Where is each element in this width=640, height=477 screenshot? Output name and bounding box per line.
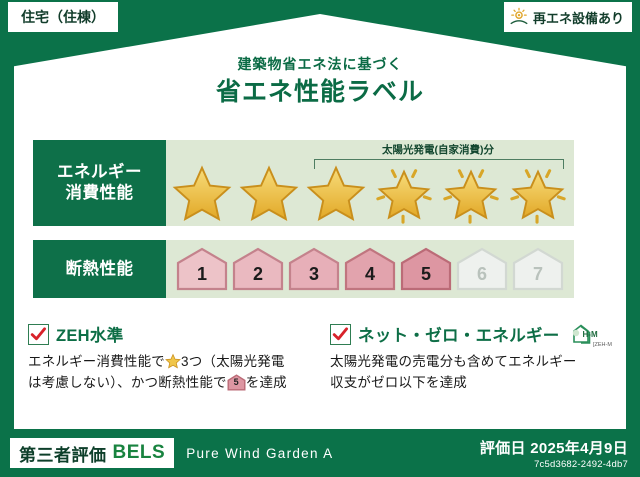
title-subtitle: 建築物省エネ法に基づく: [0, 56, 640, 73]
evaluation-info: 評価日 2025年4月9日 7c5d3682-2492-4db7: [480, 437, 628, 470]
insulation-badge-group: 1 2 3 4 5: [166, 240, 574, 298]
renewable-equipment-label: 再エネ設備あり: [533, 8, 624, 27]
insulation-badge-inactive: 7: [511, 246, 565, 292]
star-item-solar: [373, 162, 435, 224]
energy-performance-label-card: 住宅（住棟） 再エネ設備あり 建築物省エネ法に基づく 省エネ性能ラベル: [0, 0, 640, 477]
evaluation-date-label: 評価日: [480, 440, 526, 457]
zeh-standard-body: エネルギー消費性能で3つ（太陽光発電 は考慮しない）、かつ断熱性能で5を達成: [28, 352, 308, 394]
energy-label-line2: 消費性能: [66, 183, 134, 204]
insulation-badge-panel: 1 2 3 4 5: [166, 240, 574, 298]
insulation-performance-row: 断熱性能 1 2 3 4: [33, 240, 574, 298]
renewable-equipment-badge: 再エネ設備あり: [504, 2, 632, 32]
zeh-m-logo-icon: H-M [ZEH-M]: [568, 320, 610, 348]
insulation-badge-number: 2: [253, 265, 263, 292]
energy-label-line1: エネルギー: [57, 162, 142, 183]
insulation-badge-number: 5: [421, 265, 431, 292]
star-icon-inline: [165, 353, 181, 369]
net-zero-energy-header: ネット・ゼロ・エネルギー H-M [ZEH-M]: [330, 322, 610, 346]
property-name: Pure Wind Garden A: [186, 446, 333, 461]
zeh-standard-header: ZEH水準: [28, 322, 308, 346]
net-zero-energy-section: ネット・ゼロ・エネルギー H-M [ZEH-M] 太陽光発電の売電分も含めてエネ…: [330, 322, 610, 394]
net-zero-body-line2: 収支がゼロ以下を達成: [330, 373, 610, 394]
svg-text:H-M: H-M: [582, 330, 597, 339]
star-item: [171, 162, 233, 224]
insulation-badge: 3: [287, 246, 341, 292]
title-block: 建築物省エネ法に基づく 省エネ性能ラベル: [0, 56, 640, 110]
insulation-badge: 2: [231, 246, 285, 292]
insulation-label-text: 断熱性能: [66, 259, 134, 280]
insulation-badge-number: 3: [309, 265, 319, 292]
evaluation-id: 7c5d3682-2492-4db7: [480, 459, 628, 470]
star-item-solar: [440, 162, 502, 224]
energy-performance-label: エネルギー 消費性能: [33, 140, 166, 226]
insulation-badge-number: 4: [365, 265, 375, 292]
sparkle-marks-icon: [507, 162, 569, 224]
insulation-badge-inactive: 6: [455, 246, 509, 292]
energy-performance-row: エネルギー 消費性能 太陽光発電(自家消費)分: [33, 140, 574, 226]
insulation-badge-number: 1: [197, 265, 207, 292]
energy-star-panel: 太陽光発電(自家消費)分: [166, 140, 574, 226]
check-icon: [330, 324, 351, 345]
sun-icon: [508, 6, 530, 28]
building-type-badge: 住宅（住棟）: [8, 2, 118, 32]
bottom-bar: 第三者評価 BELS Pure Wind Garden A 評価日 2025年4…: [0, 429, 640, 477]
star-item-solar: [507, 162, 569, 224]
solar-generation-caption: 太陽光発電(自家消費)分: [308, 142, 568, 157]
star-item: [305, 162, 367, 224]
page-title: 省エネ性能ラベル: [0, 76, 640, 110]
third-party-evaluation-label: 第三者評価: [19, 441, 107, 466]
sparkle-marks-icon: [373, 162, 435, 224]
insulation-performance-label: 断熱性能: [33, 240, 166, 298]
evaluation-date: 評価日 2025年4月9日: [480, 437, 628, 458]
insulation-badge: 1: [175, 246, 229, 292]
building-type-label: 住宅（住棟）: [21, 7, 105, 27]
evaluation-date-value: 2025年4月9日: [530, 440, 628, 457]
sparkle-marks-icon: [440, 162, 502, 224]
check-icon: [28, 324, 49, 345]
net-zero-energy-title: ネット・ゼロ・エネルギー: [358, 322, 560, 346]
bels-certification-badge: 第三者評価 BELS: [10, 438, 174, 468]
insulation-badge: 5: [399, 246, 453, 292]
insulation-badge-number: 6: [477, 265, 487, 292]
insulation-badge: 4: [343, 246, 397, 292]
zeh-body-star-count: 3つ（太陽光発電: [181, 354, 285, 369]
insulation-badge-number: 7: [533, 265, 543, 292]
net-zero-energy-body: 太陽光発電の売電分も含めてエネルギー 収支がゼロ以下を達成: [330, 352, 610, 394]
zeh-body-part2: は考慮しない）、かつ断熱性能で: [28, 375, 227, 390]
zeh-standard-section: ZEH水準 エネルギー消費性能で3つ（太陽光発電 は考慮しない）、かつ断熱性能で…: [28, 322, 308, 394]
bels-logo-text: BELS: [113, 442, 166, 464]
zeh-m-caption: [ZEH-M]: [593, 342, 612, 348]
zeh-body-part1: エネルギー消費性能で: [28, 354, 165, 369]
inline-badge-number: 5: [227, 374, 246, 391]
net-zero-body-line1: 太陽光発電の売電分も含めてエネルギー: [330, 352, 610, 373]
star-item: [238, 162, 300, 224]
insulation-badge-icon-inline: 5: [227, 374, 246, 391]
star-rating-group: [166, 158, 574, 224]
zeh-standard-title: ZEH水準: [56, 322, 124, 346]
zeh-body-part3: を達成: [246, 375, 287, 390]
